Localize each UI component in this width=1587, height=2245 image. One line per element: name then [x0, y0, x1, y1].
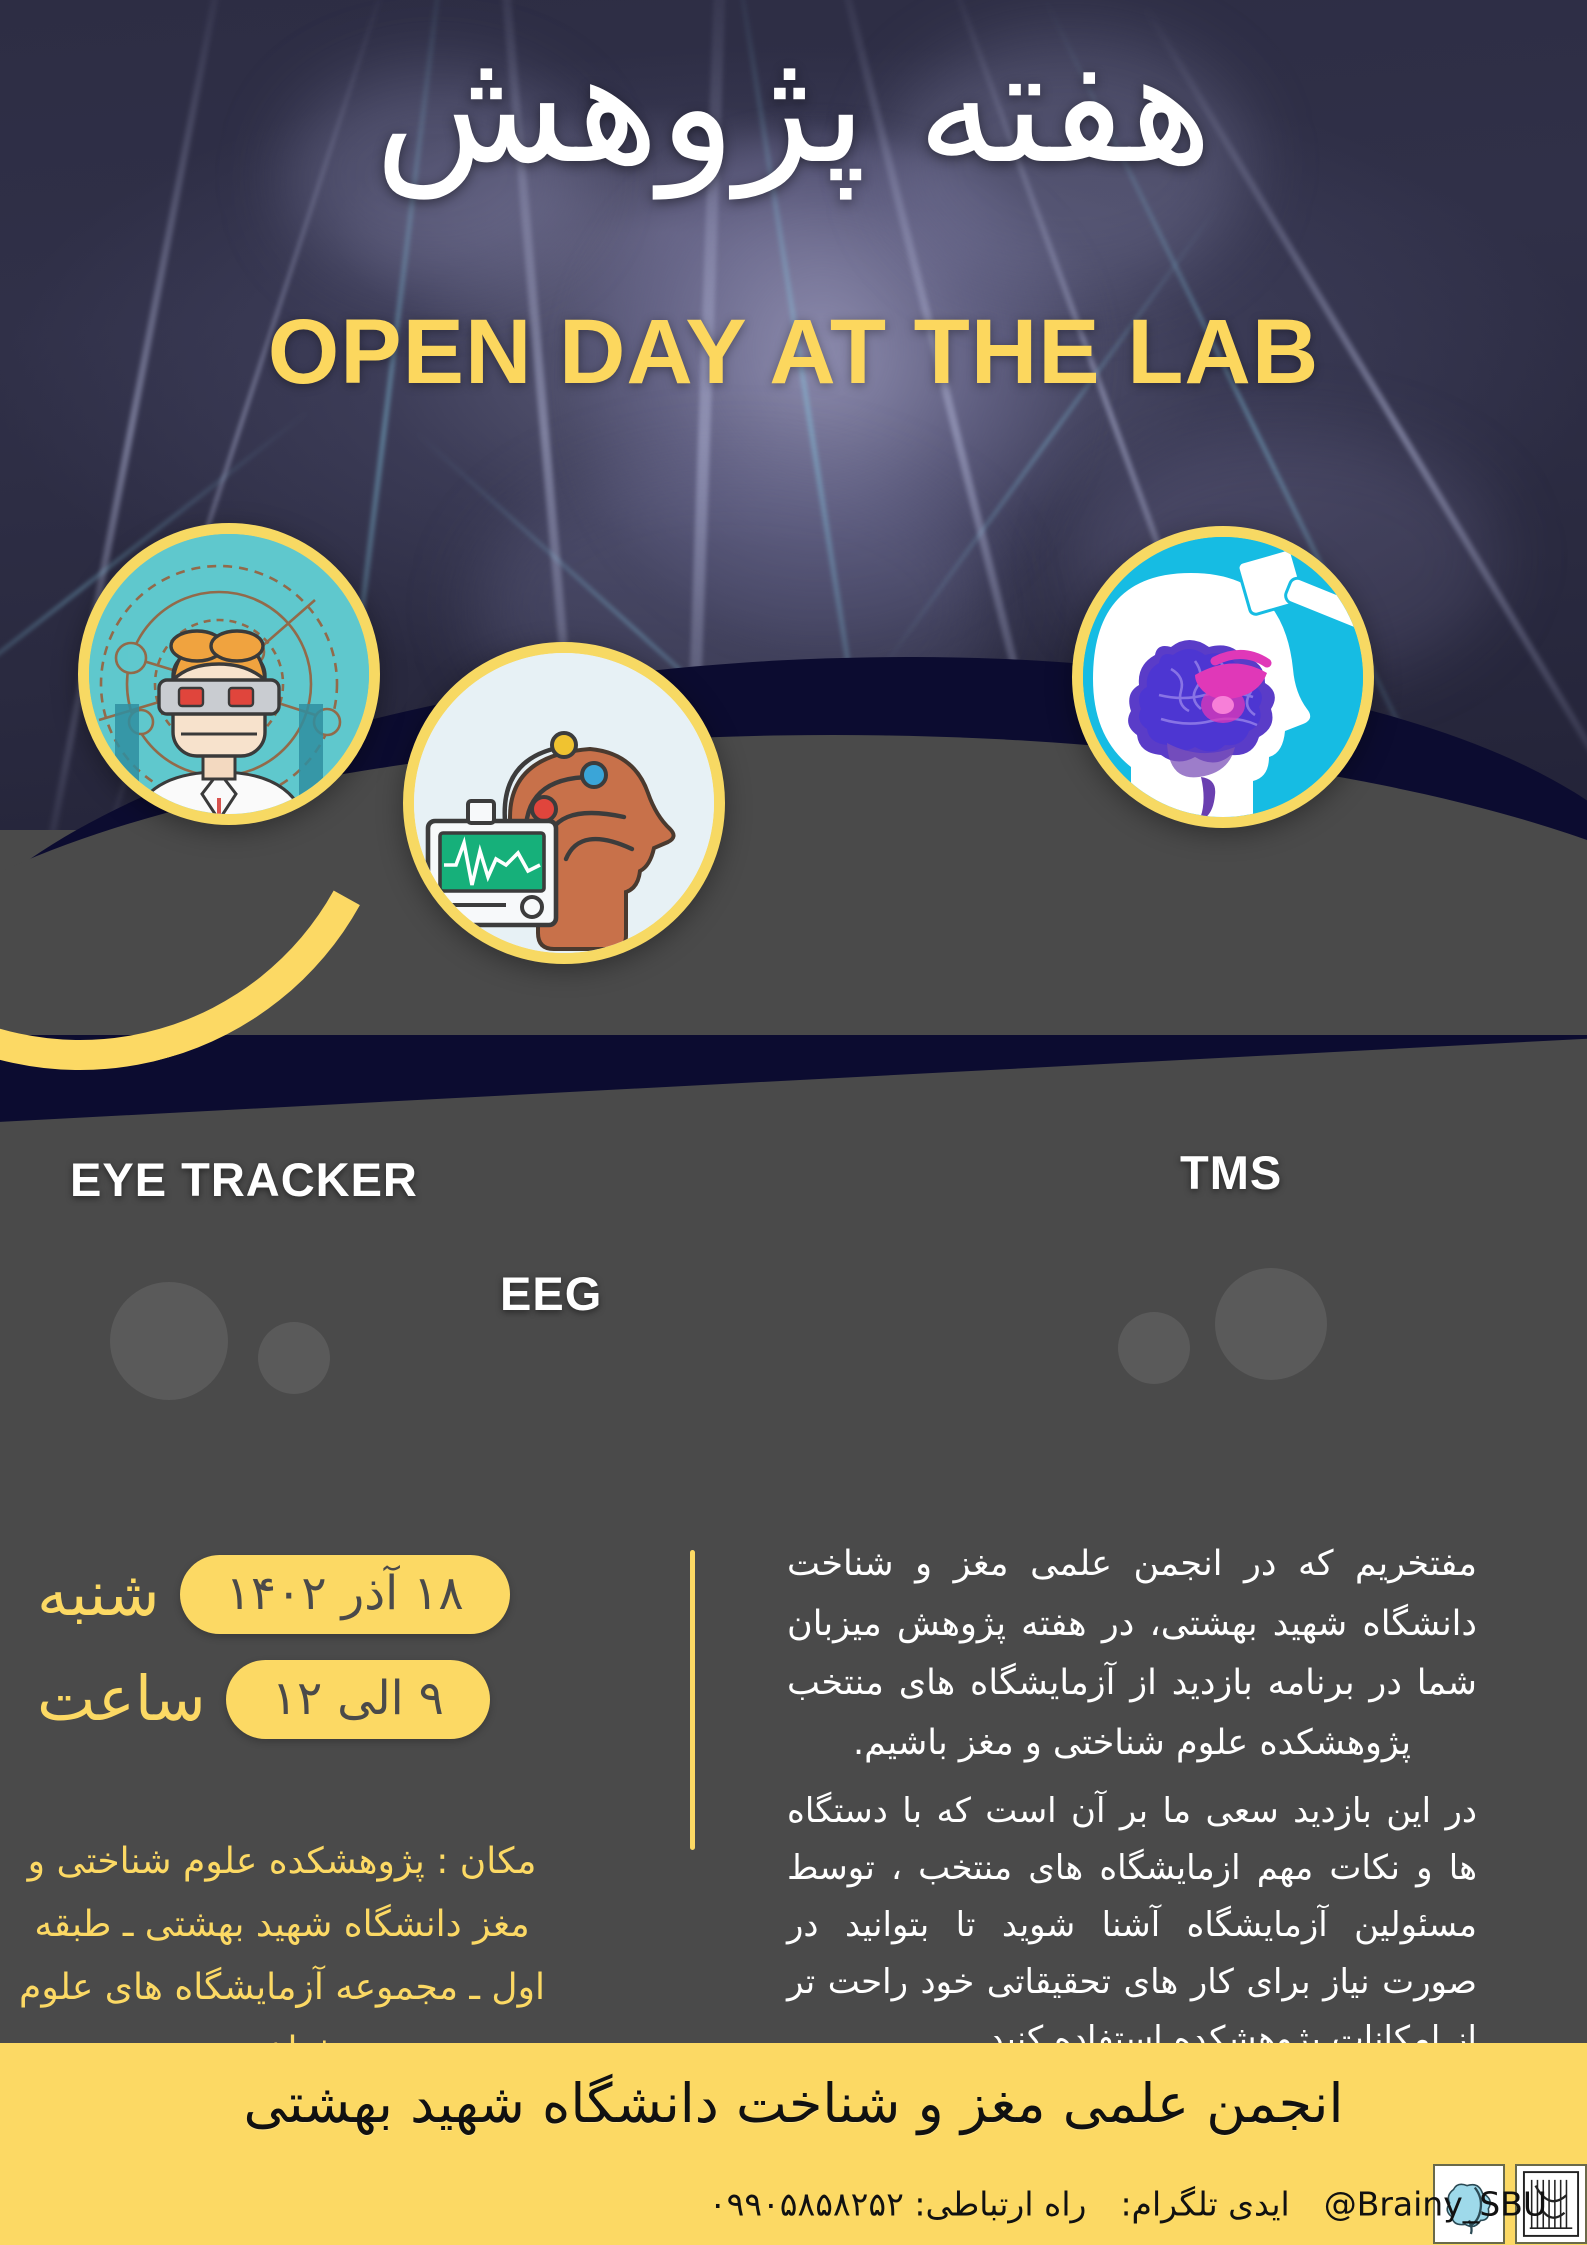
body-paragraph-2: در این بازدید سعی ما بر آن است که با دست… [787, 1783, 1477, 2069]
contact-bar: @Brainy_SBU ایدی تلگرام: راه ارتباطی: ۰۹… [0, 2163, 1587, 2245]
day-label: شنبه [37, 1563, 160, 1625]
page-title-persian: هفته پژوهش [0, 14, 1587, 200]
station-circle-eye-tracker[interactable] [78, 523, 380, 825]
bokeh-circle [110, 1282, 228, 1400]
station-label-eeg: EEG [500, 1266, 602, 1321]
telegram-label: ایدی تلگرام: [1120, 2185, 1289, 2224]
date-pill: ۱۸ آذر ۱۴۰۲ [180, 1555, 510, 1634]
schedule-block: ۱۸ آذر ۱۴۰۲ شنبه ۹ الی ۱۲ ساعت [37, 1555, 557, 1765]
body-paragraph-1: مفتخریم که در انجمن علمی مغز و شناخت دان… [787, 1535, 1477, 1773]
time-label: ساعت [37, 1668, 206, 1730]
organizer-name: انجمن علمی مغز و شناخت دانشگاه شهید بهشت… [244, 2072, 1344, 2135]
poster-root: هفته پژوهش OPEN DAY AT THE LAB [0, 0, 1587, 2245]
station-circle-eeg[interactable] [403, 642, 725, 964]
schedule-row-time: ۹ الی ۱۲ ساعت [37, 1660, 557, 1739]
station-label-tms: TMS [1180, 1145, 1282, 1200]
organizer-band: انجمن علمی مغز و شناخت دانشگاه شهید بهشت… [0, 2043, 1587, 2163]
schedule-row-day: ۱۸ آذر ۱۴۰۲ شنبه [37, 1555, 557, 1634]
bokeh-circle [1118, 1312, 1190, 1384]
time-pill: ۹ الی ۱۲ [226, 1660, 490, 1739]
station-label-eye-tracker: EYE TRACKER [70, 1152, 418, 1207]
phone-label: راه ارتباطی: ۰۹۹۰۵۸۵۸۲۵۲ [709, 2185, 1087, 2224]
contact-info: @Brainy_SBU ایدی تلگرام: راه ارتباطی: ۰۹… [709, 2185, 1547, 2224]
vertical-divider [690, 1550, 695, 1850]
bokeh-circle [258, 1322, 330, 1394]
body-text-block: مفتخریم که در انجمن علمی مغز و شناخت دان… [787, 1535, 1477, 2079]
telegram-handle[interactable]: @Brainy_SBU [1324, 2185, 1547, 2224]
page-title-english: OPEN DAY AT THE LAB [0, 300, 1587, 405]
station-circle-tms[interactable] [1072, 526, 1374, 828]
bokeh-circle [1215, 1268, 1327, 1380]
